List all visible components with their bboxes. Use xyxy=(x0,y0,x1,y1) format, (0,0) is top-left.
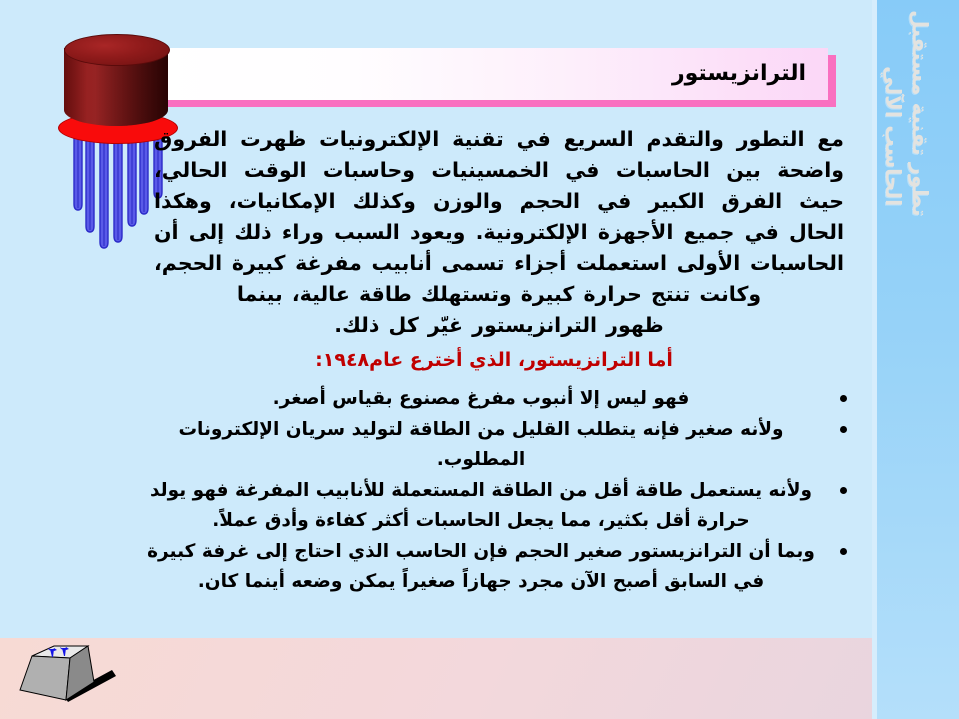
sidebar-text-wrap: تطور تقنية مستقبل الحاسب الآلي xyxy=(877,0,959,719)
bullet-dot-icon xyxy=(840,548,847,555)
slide-canvas: تطور تقنية مستقبل الحاسب الآلي الترانزيس… xyxy=(0,0,959,719)
sidebar-heading-line-2: الحاسب الآلي xyxy=(881,66,905,206)
list-item-label: فهو ليس إلا أنبوب مفرغ مصنوع بقياس أصغر. xyxy=(139,384,823,414)
bullet-list: فهو ليس إلا أنبوب مفرغ مصنوع بقياس أصغر.… xyxy=(139,384,849,598)
section-subheading: أما الترانزيستور، الذي أخترع عام١٩٤٨: xyxy=(144,347,844,373)
list-item: ولأنه يستعمل طاقة أقل من الطاقة المستعمل… xyxy=(139,476,849,536)
page-title: الترانزيستور xyxy=(672,63,806,85)
paragraph-line: ظهور الترانزيستور غيّر كل ذلك. xyxy=(154,310,844,341)
sidebar: تطور تقنية مستقبل الحاسب الآلي xyxy=(877,0,959,719)
chip-illustration xyxy=(8,630,138,716)
list-item: فهو ليس إلا أنبوب مفرغ مصنوع بقياس أصغر. xyxy=(139,384,849,414)
list-item-label: ولأنه يستعمل طاقة أقل من الطاقة المستعمل… xyxy=(139,476,823,536)
transistor-can-top xyxy=(64,34,170,66)
list-item-label: وبما أن الترانزيستور صغير الحجم فإن الحا… xyxy=(139,537,823,597)
bullet-dot-icon xyxy=(840,426,847,433)
list-item: ولأنه صغير فإنه يتطلب القليل من الطاقة ل… xyxy=(139,415,849,475)
list-item-label: ولأنه صغير فإنه يتطلب القليل من الطاقة ل… xyxy=(139,415,823,475)
chip-icon xyxy=(8,630,138,716)
list-item: وبما أن الترانزيستور صغير الحجم فإن الحا… xyxy=(139,537,849,597)
title-bar: الترانزيستور xyxy=(152,48,828,100)
sidebar-heading-line-1: تطور تقنية مستقبل xyxy=(908,10,932,216)
body-paragraph: مع التطور والتقدم السريع في تقنية الإلكت… xyxy=(154,124,844,341)
bullet-dot-icon xyxy=(840,395,847,402)
bullet-dot-icon xyxy=(840,487,847,494)
